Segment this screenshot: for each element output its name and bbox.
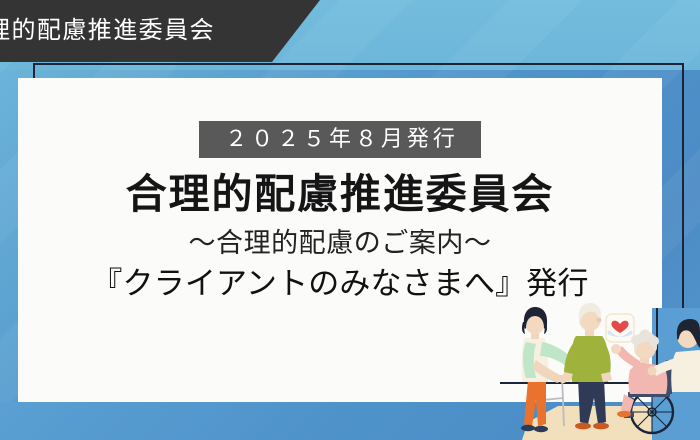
poster-canvas: 理的配慮推進委員会 ２０２５年８月発行 合理的配慮推進委員会 〜合理的配慮のご案… <box>0 0 700 440</box>
top-banner: 理的配慮推進委員会 <box>0 0 320 62</box>
heart-in-hands-icon <box>606 314 634 342</box>
top-banner-label: 理的配慮推進委員会 <box>0 19 215 43</box>
caregiving-illustration <box>500 300 700 440</box>
